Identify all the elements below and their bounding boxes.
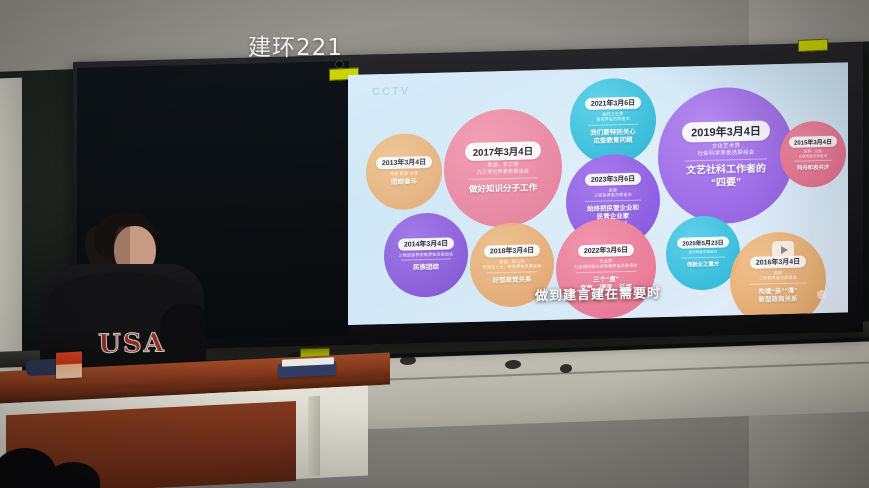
- bubble-2015-sub: 民革、台盟 台联界委员联组会: [799, 149, 828, 159]
- bubble-divider: [468, 177, 539, 180]
- bubble-2021-date: 2021年3月6日: [585, 97, 641, 110]
- bubble-divider: [681, 256, 724, 258]
- bubble-2023-date: 2023年3月6日: [585, 173, 641, 186]
- bubble-2017-highlight: 做好知识分子工作: [469, 182, 537, 194]
- bubble-divider: [585, 199, 641, 201]
- bubble-2022-sub: 农业界 社会福利和社会保障界委员联组会: [575, 258, 638, 270]
- bubble-2019-sub: 文化艺术界 社会科学界委员联组会: [697, 142, 754, 158]
- bubble-2013-date: 2013年3月4日: [376, 156, 432, 169]
- bubble-divider: [487, 271, 537, 273]
- bubble-2013-sub: 民盟 民进 台盟: [390, 171, 418, 177]
- bubble-2021-sub: 医药卫生界 教育界委员联组会: [596, 111, 630, 123]
- bubble-divider: [588, 123, 639, 125]
- bubble-2017-sub: 民进、农工党 九三学社界委员联组会: [477, 162, 529, 177]
- bubble-2019-highlight: 文艺社科工作者的 “四要”: [686, 164, 766, 191]
- bubble-2023-sub: 民建 工商联界委员联组会: [594, 187, 632, 199]
- bubble-2014-date: 2014年3月4日: [398, 237, 454, 250]
- hoodie-text: USA: [88, 329, 176, 359]
- bubble-divider: [794, 160, 832, 162]
- bubble-2014-sub: 少数民族界宗教界委员联组会: [399, 251, 454, 258]
- display-screen[interactable]: CCTV 2013年3月4日 民盟 民进 台盟 团结奋斗 2017年3月4日 民…: [348, 62, 848, 325]
- bubble-2015-date: 2015年3月4日: [789, 136, 837, 148]
- bubble-2013-highlight: 团结奋斗: [391, 178, 417, 187]
- classroom-photo: 学习两会精神 CCTV 2013年3月4日 民盟 民进 台盟 团结奋斗: [0, 0, 869, 488]
- play-icon[interactable]: [772, 241, 794, 259]
- play-triangle: [781, 245, 788, 253]
- bubble-2014-highlight: 民族团结: [413, 264, 439, 273]
- desk-leg: [308, 396, 320, 477]
- bubble-divider: [401, 259, 451, 261]
- bubble-divider: [576, 271, 636, 274]
- overlay-caption: 建环221: [248, 28, 343, 62]
- bubble-2020-highlight: 保就业之重方: [687, 262, 719, 270]
- bubble-2018-date: 2018年3月4日: [484, 244, 540, 257]
- bubble-2018-highlight: 好型政党关系: [493, 276, 532, 285]
- bubble-2017-date: 2017年3月4日: [465, 142, 541, 162]
- red-box-item: [56, 352, 82, 379]
- bubble-2020-sub: 经济界委员联组会: [689, 250, 718, 255]
- bubble-2020-date: 2020年5月23日: [677, 237, 728, 249]
- bubble-2019-date: 2019年3月4日: [682, 120, 770, 142]
- presentation-slide: CCTV 2013年3月4日 民盟 民进 台盟 团结奋斗 2017年3月4日 民…: [348, 62, 848, 325]
- display-sticker-right: [798, 39, 828, 52]
- bubble-2018-sub: 民盟、致公党 无党派人士、侨联界委员联组会: [483, 258, 542, 270]
- cctv-watermark: CCTV: [372, 85, 410, 98]
- bubble-divider: [685, 159, 767, 162]
- blackboard-left-frame: [0, 78, 22, 379]
- bubble-2021-highlight: 我们要特别关心 这些教育问题: [590, 129, 636, 146]
- bubble-2022-date: 2022年3月6日: [578, 244, 634, 257]
- bubble-2015-highlight: 同舟和衷共济: [797, 165, 829, 173]
